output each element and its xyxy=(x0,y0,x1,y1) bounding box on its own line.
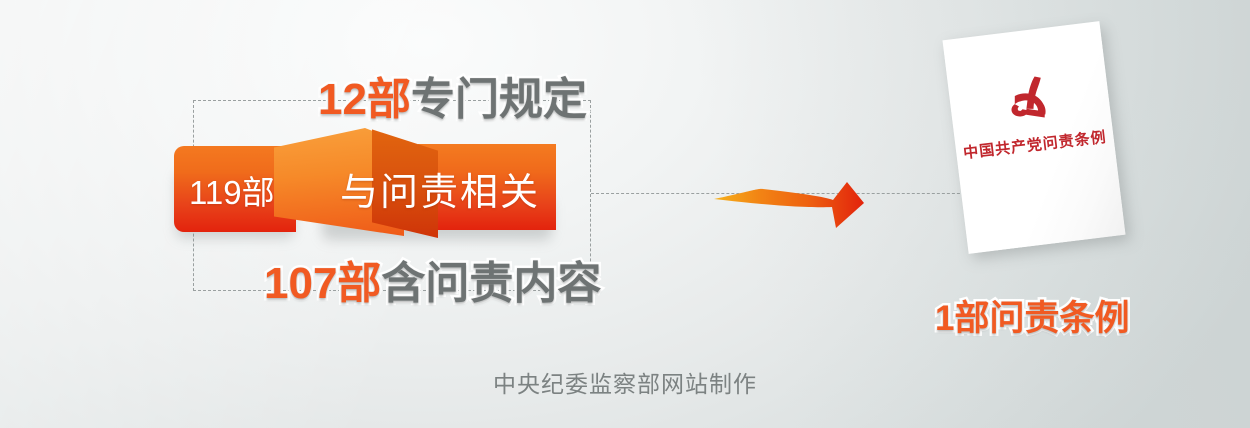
label-special-regulations-number: 12部 xyxy=(318,75,411,124)
label-one-regulation-number: 1部 xyxy=(935,299,989,338)
label-contains-accountability-number: 107部 xyxy=(264,259,381,308)
label-contains-accountability-text: 含问责内容 xyxy=(381,259,601,308)
ribbon-count-label: 119部 xyxy=(189,173,275,213)
label-one-regulation-text: 问责条例 xyxy=(989,299,1129,338)
ribbon-banner: 119部 与问责相关 xyxy=(170,126,560,238)
booklet-title: 中国共产党问责条例 xyxy=(955,125,1114,164)
regulation-booklet: 中国共产党问责条例 xyxy=(942,21,1125,254)
footer-caption: 中央纪委监察部网站制作 xyxy=(0,369,1250,399)
ribbon-title-label: 与问责相关 xyxy=(340,170,540,216)
swoosh-arrow-right-icon xyxy=(714,158,864,230)
hammer-and-sickle-icon xyxy=(1000,69,1058,127)
label-contains-accountability: 107部含问责内容 xyxy=(264,258,601,310)
label-one-regulation: 1部问责条例 xyxy=(935,298,1129,340)
infographic-canvas: 12部专门规定 119部 与问责相关 107部含问责内容 xyxy=(0,0,1250,428)
label-special-regulations: 12部专门规定 xyxy=(318,74,587,126)
label-special-regulations-text: 专门规定 xyxy=(411,75,587,124)
